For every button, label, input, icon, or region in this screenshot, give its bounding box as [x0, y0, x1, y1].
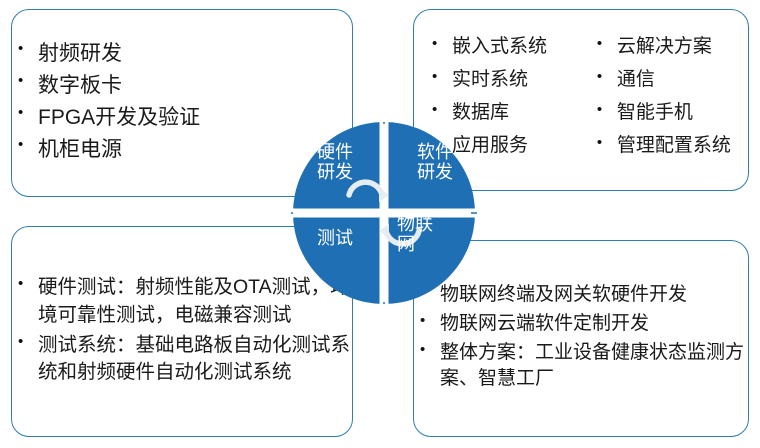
list-item: 嵌入式系统 [426, 34, 591, 61]
list-item: 云解决方案 [591, 34, 748, 61]
list-item: 射频研发 [12, 39, 352, 69]
list-item: 物联网云端软件定制开发 [414, 311, 748, 338]
center-hub [291, 122, 477, 304]
list-item: 实时系统 [426, 67, 591, 94]
list-item: 测试系统：基础电路板自动化测试系统和射频硬件自动化测试系统 [12, 332, 352, 387]
list-item: 智能手机 [591, 100, 748, 127]
list-item: 通信 [591, 67, 748, 94]
list-item: 数字板卡 [12, 71, 352, 101]
hub-circle-graphic [291, 122, 477, 304]
software-rd-list-column-b: 云解决方案 通信 智能手机 管理配置系统 [591, 34, 748, 166]
diagram-canvas: 射频研发 数字板卡 FPGA开发及验证 机柜电源 嵌入式系统 实时系统 数据库 … [0, 0, 760, 448]
list-item: 整体方案：工业设备健康状态监测方案、智慧工厂 [414, 340, 748, 394]
hub-divider-horizontal [291, 209, 477, 218]
list-item: 管理配置系统 [591, 133, 748, 160]
